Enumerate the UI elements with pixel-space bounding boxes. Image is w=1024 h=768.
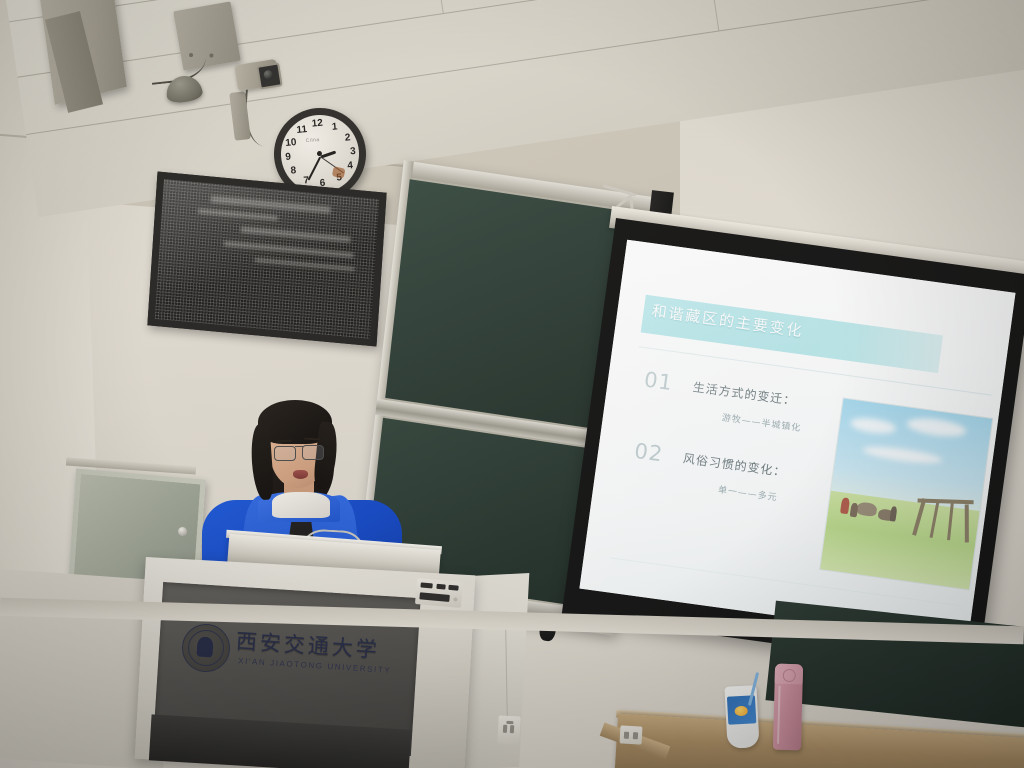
photo-wooden-frame (912, 496, 971, 545)
wall-outlet[interactable] (620, 725, 643, 744)
mouth (293, 470, 308, 479)
clock-number: 2 (341, 132, 354, 144)
clock-brand-label: Cilna (306, 137, 320, 144)
clock-number: 4 (344, 160, 357, 172)
clock-number: 3 (346, 146, 359, 158)
clock-number: 10 (284, 137, 297, 149)
clock-number: 9 (282, 151, 295, 163)
slide-bullet-2: 02 风俗习惯的变化： (633, 439, 788, 484)
wall-outlet[interactable] (497, 715, 520, 744)
clock-minute-hand (308, 157, 322, 181)
thermos-highlight (777, 686, 781, 744)
slide-photo (820, 399, 992, 590)
bullet-text: 风俗习惯的变化： (682, 449, 787, 480)
eyeglasses-bridge (295, 446, 303, 447)
eyeglasses-lens-left (274, 446, 296, 461)
cabinet-knob-icon[interactable] (178, 527, 188, 537)
camera-lens-icon (256, 62, 282, 89)
seal-emblem (196, 636, 213, 657)
eyeglasses-lens-right (302, 445, 324, 460)
turtleneck-collar (272, 492, 330, 518)
clock-number: 8 (287, 165, 300, 177)
screen-surface: 和谐藏区的主要变化 01 生活方式的变迁： 游牧——半城镇化 02 风俗习惯的变… (579, 240, 1015, 642)
mesh-notice-panel (147, 172, 386, 347)
bullet-subtext-2: 单一——多元 (717, 482, 778, 503)
clock-number: 11 (295, 124, 308, 136)
bullet-subtext-1: 游牧——半城镇化 (721, 410, 802, 434)
bullet-number: 01 (643, 367, 675, 395)
podium-control-panel[interactable] (415, 578, 463, 608)
clock-number: 1 (328, 121, 341, 133)
juice-pouch[interactable] (724, 685, 759, 749)
slide-bullet-1: 01 生活方式的变迁： (643, 367, 798, 412)
presentation-slide: 和谐藏区的主要变化 01 生活方式的变迁： 游牧——半城镇化 02 风俗习惯的变… (579, 240, 1015, 642)
bullet-text: 生活方式的变迁： (692, 378, 797, 409)
pink-thermos-bottle[interactable] (773, 664, 803, 751)
bullet-number: 02 (633, 439, 665, 467)
clock-number: 12 (311, 118, 324, 130)
lecture-hall-photo: 12 1 2 3 4 5 6 7 8 9 10 11 Cilna (0, 0, 1024, 768)
